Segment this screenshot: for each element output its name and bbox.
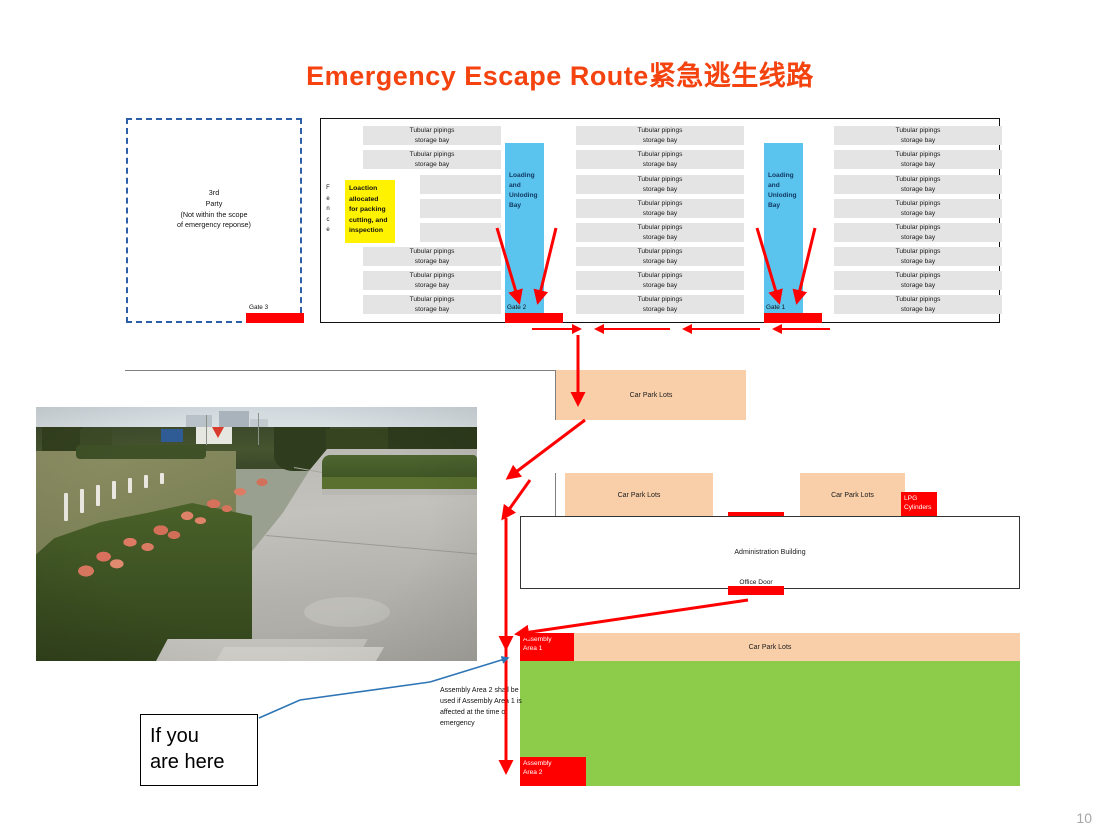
storage-bay: Tubular pipings storage bay	[834, 295, 1002, 314]
arrow-diagonal-down-left-2	[503, 480, 530, 518]
gate-2-label: Gate 2	[507, 304, 526, 311]
storage-bay: Tubular pipings storage bay	[363, 247, 501, 266]
page-number: 10	[1076, 810, 1092, 826]
green-field	[520, 661, 1020, 786]
assembly-area-1: Assembly Area 1	[520, 633, 574, 661]
storage-bay: Tubular pipings storage bay	[834, 150, 1002, 169]
fence-letter: c	[323, 215, 333, 226]
page-title: Emergency Escape Route紧急逃生线路	[0, 54, 1120, 93]
loading-unloading-bay-gate2: Loading and Unloding Bay	[505, 143, 544, 313]
packing-cutting-inspection-area: Loaction allocated for packing cutting, …	[345, 180, 395, 243]
car-park-upper: Car Park Lots	[556, 370, 746, 420]
photo-vignette	[36, 407, 477, 661]
office-door-bottom-label: Office Door	[728, 579, 784, 586]
storage-bay-half	[420, 199, 501, 218]
callout-leader-line	[259, 682, 430, 718]
fence-label: F e n c e	[323, 183, 333, 236]
storage-bay: Tubular pipings storage bay	[834, 247, 1002, 266]
lpg-cylinders: LPG Cylinders	[901, 492, 937, 517]
callout-pointer-arrow	[430, 658, 508, 682]
storage-bay: Tubular pipings storage bay	[834, 199, 1002, 218]
storage-bay: Tubular pipings storage bay	[834, 175, 1002, 194]
storage-bay: Tubular pipings storage bay	[576, 150, 744, 169]
gate-3-block	[246, 313, 304, 323]
third-party-area: 3rd Party (Not within the scope of emerg…	[126, 118, 302, 323]
storage-bay: Tubular pipings storage bay	[576, 247, 744, 266]
storage-bay: Tubular pipings storage bay	[363, 295, 501, 314]
storage-bay: Tubular pipings storage bay	[576, 295, 744, 314]
storage-bay: Tubular pipings storage bay	[834, 223, 1002, 242]
site-photograph	[36, 407, 477, 661]
fence-letter: F	[323, 183, 333, 194]
loading-unloading-bay-gate1: Loading and Unloding Bay	[764, 143, 803, 313]
storage-bay: Tubular pipings storage bay	[576, 175, 744, 194]
assembly-area-note: Assembly Area 2 shall be used if Assembl…	[440, 686, 522, 729]
arrow-diagonal-down-left-1	[508, 420, 585, 478]
warehouse-outline	[320, 118, 1000, 323]
storage-bay: Tubular pipings storage bay	[576, 271, 744, 290]
storage-bay: Tubular pipings storage bay	[576, 199, 744, 218]
storage-bay: Tubular pipings storage bay	[834, 271, 1002, 290]
storage-bay: Tubular pipings storage bay	[363, 271, 501, 290]
storage-bay: Tubular pipings storage bay	[576, 223, 744, 242]
gate-2-block	[505, 313, 563, 323]
assembly-area-2: Assembly Area 2	[520, 757, 586, 786]
storage-bay: Tubular pipings storage bay	[834, 126, 1002, 145]
storage-bay-half	[420, 175, 501, 194]
storage-bay: Tubular pipings storage bay	[363, 126, 501, 145]
storage-bay: Tubular pipings storage bay	[576, 126, 744, 145]
car-park-bottom: Car Park Lots	[520, 633, 1020, 661]
car-park-mid-right: Car Park Lots	[800, 473, 905, 517]
arrow-office-door-to-assembly-1	[517, 600, 748, 634]
storage-bay: Tubular pipings storage bay	[363, 150, 501, 169]
gate-1-label: Gate 1	[766, 304, 785, 311]
gate-3-label: Gate 3	[249, 304, 268, 311]
fence-letter: n	[323, 204, 333, 215]
fence-letter: e	[323, 194, 333, 205]
fence-letter: e	[323, 225, 333, 236]
storage-bay-half	[420, 223, 501, 242]
third-party-label: 3rd Party (Not within the scope of emerg…	[128, 188, 300, 231]
slide-canvas: Emergency Escape Route紧急逃生线路 3rd Party (…	[0, 0, 1120, 840]
car-park-mid-left: Car Park Lots	[565, 473, 713, 517]
gate-1-block	[764, 313, 822, 323]
office-door-bottom-block	[728, 586, 784, 595]
you-are-here-callout: If you are here	[140, 714, 258, 786]
site-boundary-top	[125, 370, 556, 371]
site-boundary-mid-vertical	[555, 473, 556, 517]
